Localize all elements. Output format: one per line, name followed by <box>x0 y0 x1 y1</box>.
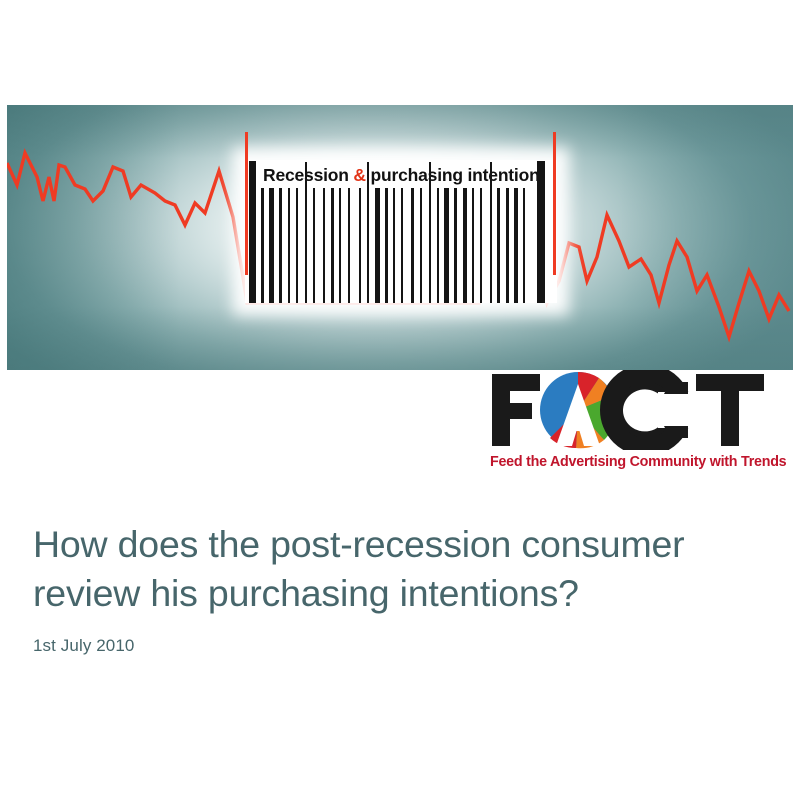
barcode-graphic: Recession & purchasing intention <box>245 160 557 303</box>
recession-banner-image: Recession & purchasing intention <box>7 105 793 370</box>
barcode-bar <box>348 188 350 303</box>
barcode-bar <box>463 188 467 303</box>
barcode-bar <box>437 188 439 303</box>
barcode-bar <box>444 188 449 303</box>
barcode-bar <box>323 188 325 303</box>
fact-tagline: Feed the Advertising Community with Tren… <box>490 454 793 470</box>
barcode-label-part2: purchasing intention <box>366 165 540 185</box>
barcode-label-ampersand: & <box>353 165 365 185</box>
barcode-bar <box>296 188 298 303</box>
barcode-bar <box>313 188 315 303</box>
barcode-bar <box>393 188 395 303</box>
barcode-bar <box>367 162 369 303</box>
barcode-guard-bar-left <box>249 161 256 303</box>
barcode-bar <box>472 188 474 303</box>
barcode-bar <box>420 188 422 303</box>
slide-canvas: Recession & purchasing intention <box>0 0 800 800</box>
barcode-bars <box>245 188 557 303</box>
slide-title: How does the post-recession consumer rev… <box>33 520 753 618</box>
title-block: How does the post-recession consumer rev… <box>33 520 753 656</box>
barcode-bar <box>401 188 403 303</box>
barcode-bar <box>339 188 341 303</box>
barcode-bar <box>331 188 334 303</box>
barcode-bar <box>279 188 282 303</box>
fact-wordmark <box>488 370 793 450</box>
barcode-bar <box>385 188 388 303</box>
fact-logo: Feed the Advertising Community with Tren… <box>488 370 793 480</box>
logo-letter-t <box>696 374 764 446</box>
barcode-bar <box>261 188 264 303</box>
barcode-bar <box>269 188 274 303</box>
barcode-bar <box>305 162 307 303</box>
barcode-bar <box>375 188 380 303</box>
barcode-bar <box>490 162 492 303</box>
barcode-guard-bar-right <box>537 161 545 303</box>
barcode-bar <box>359 188 361 303</box>
barcode-label-part1: Recession <box>263 165 353 185</box>
barcode-bar <box>480 188 482 303</box>
barcode-bar <box>523 188 525 303</box>
barcode-bar <box>429 162 431 303</box>
logo-letter-f <box>492 374 540 446</box>
barcode-bar <box>454 188 457 303</box>
barcode-bar <box>497 188 500 303</box>
barcode-bar <box>514 188 518 303</box>
barcode-bar <box>288 188 290 303</box>
logo-letter-c <box>608 373 692 447</box>
barcode-bar <box>411 188 414 303</box>
barcode-bar <box>506 188 509 303</box>
slide-date: 1st July 2010 <box>33 636 753 656</box>
